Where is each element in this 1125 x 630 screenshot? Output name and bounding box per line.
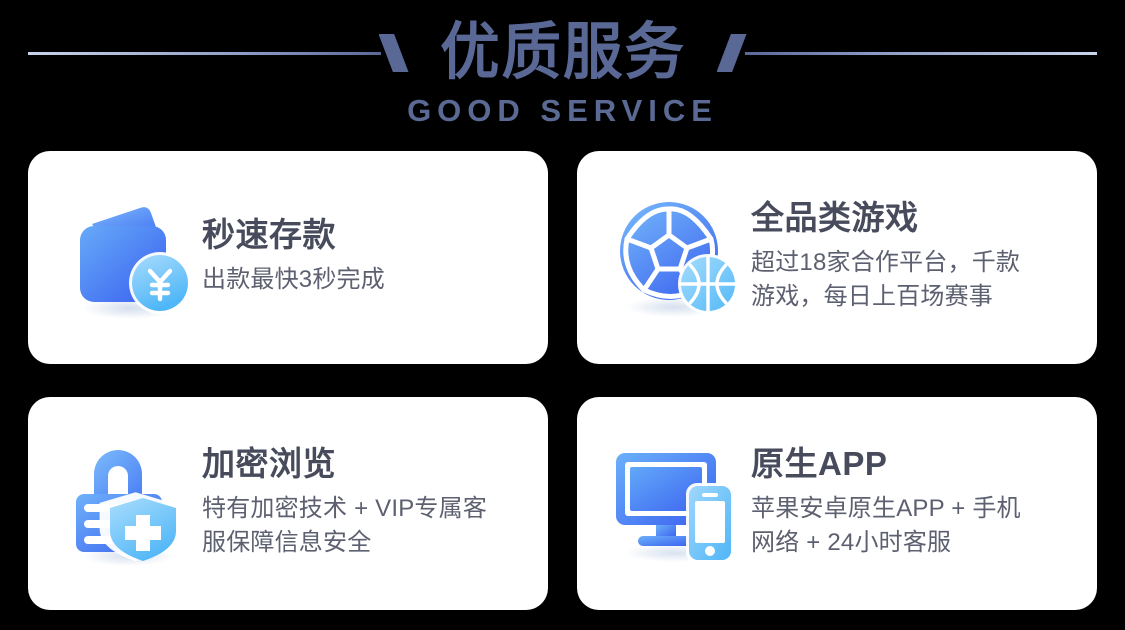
card-title: 加密浏览 — [202, 446, 534, 483]
decoration-left — [28, 33, 409, 73]
wallet-yen-icon — [54, 184, 202, 332]
feature-card-encryption[interactable]: 加密浏览 特有加密技术 + VIP专属客 服保障信息安全 — [28, 397, 548, 610]
card-text-deposit: 秒速存款 出款最快3秒完成 — [202, 217, 548, 297]
feature-card-grid: 秒速存款 出款最快3秒完成 — [28, 151, 1097, 613]
desc-line: 出款最快3秒完成 — [202, 263, 534, 297]
feature-card-native-app[interactable]: 原生APP 苹果安卓原生APP + 手机 网络 + 24小时客服 — [577, 397, 1097, 610]
decoration-right — [717, 33, 1098, 73]
desc-line: 游戏，每日上百场赛事 — [751, 280, 1083, 314]
card-description: 出款最快3秒完成 — [202, 263, 534, 297]
card-text-native-app: 原生APP 苹果安卓原生APP + 手机 网络 + 24小时客服 — [751, 446, 1097, 560]
feature-card-deposit[interactable]: 秒速存款 出款最快3秒完成 — [28, 151, 548, 364]
deco-slash-left-icon — [379, 34, 409, 72]
card-title: 原生APP — [751, 446, 1083, 483]
page-title: 优质服务 — [415, 22, 711, 84]
deco-line-left-icon — [28, 52, 381, 55]
card-text-games: 全品类游戏 超过18家合作平台，千款 游戏，每日上百场赛事 — [751, 200, 1097, 314]
desc-line: 特有加密技术 + VIP专属客 — [202, 492, 534, 526]
card-description: 超过18家合作平台，千款 游戏，每日上百场赛事 — [751, 246, 1083, 314]
card-title: 全品类游戏 — [751, 200, 1083, 237]
soccer-basketball-icon — [603, 184, 751, 332]
desc-line: 苹果安卓原生APP + 手机 — [751, 492, 1083, 526]
lock-shield-icon — [54, 430, 202, 578]
banner-header: 优质服务 GOOD SERVICE — [0, 0, 1125, 146]
title-row: 优质服务 — [0, 14, 1125, 92]
deco-slash-right-icon — [717, 34, 747, 72]
feature-card-games[interactable]: 全品类游戏 超过18家合作平台，千款 游戏，每日上百场赛事 — [577, 151, 1097, 364]
deco-line-right-icon — [745, 52, 1098, 55]
desc-line: 网络 + 24小时客服 — [751, 526, 1083, 560]
card-text-encryption: 加密浏览 特有加密技术 + VIP专属客 服保障信息安全 — [202, 446, 548, 560]
card-title: 秒速存款 — [202, 217, 534, 254]
promo-banner: 优质服务 GOOD SERVICE — [0, 0, 1125, 630]
card-description: 苹果安卓原生APP + 手机 网络 + 24小时客服 — [751, 492, 1083, 560]
card-description: 特有加密技术 + VIP专属客 服保障信息安全 — [202, 492, 534, 560]
desc-line: 超过18家合作平台，千款 — [751, 246, 1083, 280]
page-subtitle: GOOD SERVICE — [0, 95, 1125, 126]
desc-line: 服保障信息安全 — [202, 526, 534, 560]
monitor-phone-icon — [603, 430, 751, 578]
